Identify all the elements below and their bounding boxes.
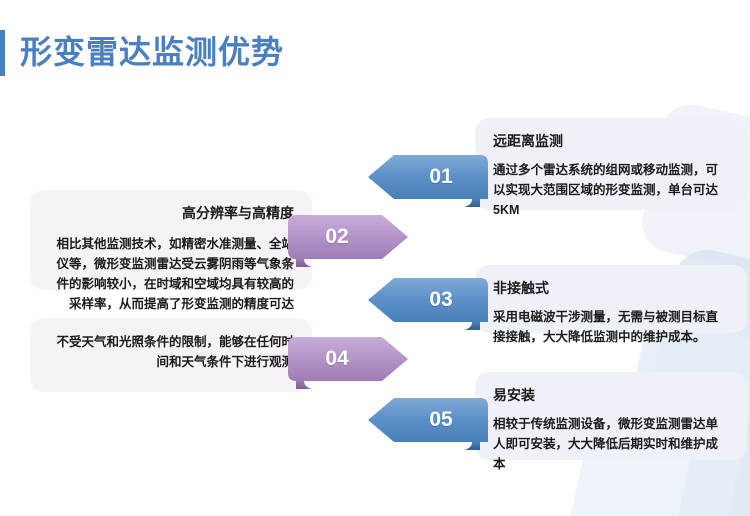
feature-card-02-heading: 高分辨率与高精度 <box>48 204 294 222</box>
feature-card-02: 高分辨率与高精度 相比其他监测技术，如精密水准测量、全站仪等，微形变监测雷达受云… <box>30 190 312 290</box>
feature-card-04: 不受天气和光照条件的限制，能够在任何时间和天气条件下进行观测 <box>30 318 312 392</box>
feature-card-03-heading: 非接触式 <box>493 279 729 297</box>
feature-card-03-body: 采用电磁波干涉测量，无需与被测目标直接接触，大大降低监测中的维护成本。 <box>493 307 729 347</box>
number-ribbon-04: 04 <box>288 337 408 381</box>
number-ribbon-03: 03 <box>368 278 488 322</box>
feature-card-05-heading: 易安装 <box>493 386 729 404</box>
feature-card-01-body: 通过多个雷达系统的组网或移动监测，可以实现大范围区域的形变监测，单台可达5KM <box>493 160 729 220</box>
number-ribbon-01: 01 <box>368 155 488 199</box>
feature-card-05-body: 相较于传统监测设备，微形变监测雷达单人即可安装，大大降低后期实时和维护成本 <box>493 414 729 474</box>
number-ribbon-02: 02 <box>288 215 408 259</box>
feature-card-04-body: 不受天气和光照条件的限制，能够在任何时间和天气条件下进行观测 <box>48 332 294 372</box>
number-ribbon-03-label: 03 <box>408 278 474 322</box>
feature-card-01-heading: 远距离监测 <box>493 132 729 150</box>
number-ribbon-04-label: 04 <box>304 337 370 381</box>
number-ribbon-01-label: 01 <box>408 155 474 199</box>
page-title: 形变雷达监测优势 <box>20 28 284 76</box>
feature-card-03: 非接触式 采用电磁波干涉测量，无需与被测目标直接接触，大大降低监测中的维护成本。 <box>475 265 747 333</box>
slide-canvas: 形变雷达监测优势 远距离监测 通过多个雷达系统的组网或移动监测，可以实现大范围区… <box>0 0 750 516</box>
number-ribbon-05: 05 <box>368 398 488 442</box>
feature-card-05: 易安装 相较于传统监测设备，微形变监测雷达单人即可安装，大大降低后期实时和维护成… <box>475 372 747 460</box>
number-ribbon-05-label: 05 <box>408 398 474 442</box>
feature-card-01: 远距离监测 通过多个雷达系统的组网或移动监测，可以实现大范围区域的形变监测，单台… <box>475 118 747 210</box>
title-accent-bar <box>0 30 5 76</box>
number-ribbon-02-label: 02 <box>304 215 370 259</box>
